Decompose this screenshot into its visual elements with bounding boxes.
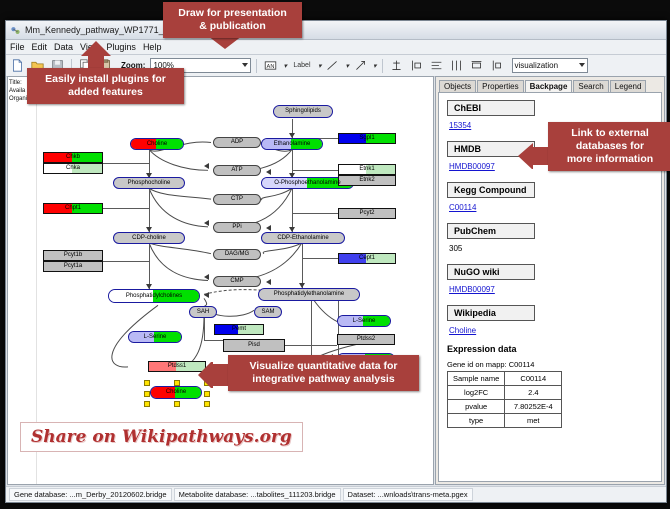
chevron-down-icon[interactable]: ▾ [318, 62, 322, 70]
external-link[interactable]: Choline [449, 326, 476, 335]
backpage-header: Kegg Compound [447, 182, 535, 198]
menu-item-file[interactable]: File [10, 42, 25, 52]
node-label: SAH [197, 309, 209, 316]
gene-node[interactable]: Chka [43, 163, 103, 174]
edge-pemt-pisd [204, 340, 223, 341]
edge-pcyt2-to-backbone [292, 213, 338, 214]
expression-value: 2.4 [505, 386, 562, 400]
share-banner-text: Share on Wikipathways.org [31, 427, 292, 447]
cofactor-node[interactable]: DAG/MG [213, 249, 261, 260]
node-label: ATP [231, 167, 242, 174]
callout-plugins-arrow-icon [81, 41, 111, 71]
expression-data-table: Sample nameC00114log2FC2.4pvalue7.80252E… [447, 371, 562, 428]
metabolite-node[interactable]: Choline [130, 138, 184, 150]
status-gene-database: Gene database: ...m_Derby_20120602.bridg… [9, 488, 172, 501]
node-label: Cept1 [359, 255, 375, 262]
callout-link-text: Link to external databases for more info… [567, 127, 653, 165]
external-link[interactable]: 15354 [449, 121, 471, 130]
backpage-header: Wikipedia [447, 305, 535, 321]
backpage-header: PubChem [447, 223, 535, 239]
gene-id-line: Gene id on mapp: C00114 [447, 360, 661, 369]
datanode-icon[interactable]: AN [262, 57, 279, 74]
cofactor-node[interactable]: CTP [213, 194, 261, 205]
align-top-icon[interactable] [388, 57, 405, 74]
node-label: Chka [66, 165, 80, 172]
backpage-value[interactable]: HMDB00097 [449, 285, 661, 294]
expression-row: typemet [448, 414, 562, 428]
arrow-icon [266, 225, 271, 231]
callout-visualize: Visualize quantitative data for integrat… [228, 355, 419, 391]
arrow-icon [204, 274, 209, 280]
node-label: Ptdss1 [168, 363, 186, 370]
pathvisio-app-icon [10, 25, 21, 36]
node-label: CDP-Ethanolamine [277, 235, 328, 242]
new-file-icon[interactable] [9, 57, 26, 74]
node-label: Phosphatidylcholines [126, 293, 182, 300]
cofactor-node[interactable]: PPi [213, 222, 261, 233]
chevron-down-icon[interactable]: ▾ [373, 62, 377, 70]
resize-handle[interactable] [204, 401, 210, 407]
expression-key: type [448, 414, 505, 428]
menu-item-help[interactable]: Help [143, 42, 162, 52]
expression-value: met [505, 414, 562, 428]
svg-text:AN: AN [267, 64, 275, 70]
expression-row: pvalue7.80252E-4 [448, 400, 562, 414]
arrow-icon [204, 292, 209, 298]
metabolite-node[interactable]: SAM [254, 306, 282, 318]
expression-key: log2FC [448, 386, 505, 400]
gene-node[interactable]: Sgpl1 [338, 133, 396, 144]
metabolite-node[interactable]: O-Phosphoethanolamine [261, 177, 354, 189]
cofactor-node[interactable]: ADP [213, 137, 261, 148]
callout-link-arrow-icon [518, 143, 550, 169]
status-bar: Gene database: ...m_Derby_20120602.bridg… [6, 486, 666, 502]
side-panel-tabs[interactable]: ObjectsPropertiesBackpageSearchLegend [436, 77, 664, 92]
expression-data-section: Expression data Gene id on mapp: C00114 … [439, 344, 661, 428]
node-label: CMP [230, 278, 243, 285]
expression-row: Sample nameC00114 [448, 372, 562, 386]
backpage-header: NuGO wiki [447, 264, 535, 280]
node-label: Phosphocholine [128, 180, 171, 187]
gene-node[interactable]: Etnk1 [338, 164, 396, 175]
edge-ptdss2-connector [311, 345, 337, 346]
node-label: Etnk1 [359, 166, 374, 173]
arrow-icon [204, 163, 209, 169]
gene-node[interactable]: Ptdss2 [337, 334, 395, 345]
edge-pemt-vert [204, 317, 205, 341]
node-label: Chpt1 [65, 205, 81, 212]
node-label: PPi [232, 224, 241, 231]
callout-visualize-text: Visualize quantitative data for integrat… [249, 360, 397, 385]
node-label: DAG/MG [225, 251, 249, 258]
node-label: CTP [231, 196, 243, 203]
cofactor-node[interactable]: ATP [213, 165, 261, 176]
node-label: Ptdss2 [357, 336, 375, 343]
node-label: L-Serine [353, 318, 376, 325]
node-label: CDP-choline [132, 235, 166, 242]
metabolite-node[interactable]: Ethanolamine [261, 138, 323, 150]
resize-handle[interactable] [144, 380, 150, 386]
node-label: ADP [231, 139, 243, 146]
window-titlebar: Mm_Kennedy_pathway_WP1771_45176.gpml [6, 21, 666, 40]
edge-cept1-to-backbone [302, 258, 338, 259]
edge-etnk-to-backbone [292, 170, 338, 171]
node-label: Pcyt2 [359, 210, 374, 217]
callout-plugins-text: Easily install plugins for added feature… [45, 73, 166, 98]
menu-item-data[interactable]: Data [54, 42, 73, 52]
metabolite-node[interactable]: L-Serine [337, 315, 391, 327]
node-label: Etnk2 [359, 177, 374, 184]
resize-handle[interactable] [144, 391, 150, 397]
edge-chk-to-backbone [103, 163, 149, 164]
backpage-value: 305 [449, 244, 661, 253]
gene-node[interactable]: Etnk2 [338, 175, 396, 186]
pathway-canvas[interactable]: Title: Availa Organi [7, 76, 434, 485]
resize-handle[interactable] [204, 391, 210, 397]
node-label: Sgpl1 [359, 135, 374, 142]
expression-key: pvalue [448, 400, 505, 414]
metabolite-node[interactable]: Phosphatidylcholines [108, 289, 200, 303]
external-link[interactable]: HMDB00097 [449, 285, 495, 294]
expression-value: 7.80252E-4 [505, 400, 562, 414]
metabolite-node[interactable]: L-Serine [128, 331, 182, 343]
chevron-down-icon[interactable] [579, 63, 585, 67]
line-icon[interactable] [324, 57, 341, 74]
node-label: Pcyt1b [64, 252, 82, 259]
node-label: Pemt [232, 326, 246, 333]
node-label: Chkb [66, 154, 80, 161]
node-label: Choline [147, 141, 167, 148]
chevron-down-icon[interactable]: ▾ [283, 62, 287, 70]
chevron-down-icon[interactable]: ▾ [345, 62, 349, 70]
node-label: L-Serine [144, 334, 167, 341]
visualization-combobox[interactable]: visualization [512, 58, 588, 73]
metabolite-node[interactable]: Sphingolipids [273, 105, 333, 118]
tab-objects[interactable]: Objects [439, 80, 476, 92]
callout-link: Link to external databases for more info… [548, 122, 670, 171]
edge-pcyt1-to-backbone [103, 261, 149, 262]
gene-node[interactable]: Pcyt2 [338, 208, 396, 219]
gene-node[interactable]: Pcyt1b [43, 250, 103, 261]
tab-legend[interactable]: Legend [610, 80, 647, 92]
gene-node[interactable]: Chkb [43, 152, 103, 163]
expression-data-title: Expression data [447, 344, 661, 354]
gene-node[interactable]: Pisd [223, 339, 285, 352]
resize-handle[interactable] [174, 380, 180, 386]
gene-node[interactable]: Pcyt1a [43, 261, 103, 272]
external-link[interactable]: C00114 [449, 203, 476, 212]
toolbar-separator-2 [256, 59, 257, 73]
callout-plugins: Easily install plugins for added feature… [27, 68, 184, 104]
node-label: O-Phosphoethanolamine [274, 180, 340, 187]
label-icon[interactable]: Label [290, 57, 314, 74]
node-label: Pcyt1a [64, 263, 82, 270]
backpage-header: ChEBI [447, 100, 535, 116]
menu-item-edit[interactable]: Edit [32, 42, 48, 52]
toolbar-separator-3 [382, 59, 383, 73]
align-left-icon[interactable] [408, 57, 425, 74]
callout-draw-text: Draw for presentation & publication [178, 7, 287, 32]
metabolite-node[interactable]: CDP-choline [113, 232, 185, 244]
arrow-icon [204, 220, 209, 226]
callout-visualize-arrow-icon [198, 362, 230, 388]
backpage-value[interactable]: C00114 [449, 203, 661, 212]
cofactor-node[interactable]: CMP [213, 276, 261, 287]
expression-key: Sample name [448, 372, 505, 386]
resize-handle[interactable] [144, 401, 150, 407]
metabolite-node[interactable]: Phosphocholine [113, 177, 185, 189]
visualization-value: visualization [515, 61, 559, 70]
external-link[interactable]: HMDB00097 [449, 162, 495, 171]
stack-icon[interactable] [428, 57, 445, 74]
screenshot-root: Mm_Kennedy_pathway_WP1771_45176.gpml Fil… [0, 0, 670, 509]
callout-draw: Draw for presentation & publication [163, 2, 302, 38]
chevron-down-icon[interactable] [242, 63, 248, 67]
node-label: SAM [261, 309, 274, 316]
backpage-value[interactable]: Choline [449, 326, 661, 335]
arrow-icon [266, 279, 271, 285]
resize-handle[interactable] [174, 401, 180, 407]
gene-node[interactable]: Chpt1 [43, 203, 103, 214]
node-label: Pisd [248, 342, 260, 349]
metabolite-node[interactable]: Phosphatidylethanolamine [258, 288, 360, 301]
node-label: Sphingolipids [285, 108, 321, 115]
node-label: Choline [166, 389, 186, 396]
status-dataset: Dataset: ...wnloads\trans-meta.pgex [343, 488, 473, 501]
share-banner: Share on Wikipathways.org [20, 422, 303, 452]
distribute-icon[interactable] [448, 57, 465, 74]
metabolite-node[interactable]: SAH [189, 306, 217, 318]
interaction-icon[interactable] [352, 57, 369, 74]
common-width-icon[interactable] [468, 57, 485, 74]
edge-chpt1-to-backbone [103, 208, 149, 209]
expression-row: log2FC2.4 [448, 386, 562, 400]
gene-node[interactable]: Cept1 [338, 253, 396, 264]
node-label: Phosphatidylethanolamine [274, 291, 344, 298]
gene-node[interactable]: Pemt [214, 324, 264, 335]
common-height-icon[interactable] [488, 57, 505, 74]
expression-value: C00114 [505, 372, 562, 386]
status-metabolite-database: Metabolite database: ...tabolites_111203… [174, 488, 341, 501]
tab-properties[interactable]: Properties [477, 80, 523, 92]
metabolite-node[interactable]: CDP-Ethanolamine [261, 232, 345, 244]
node-label: Ethanolamine [274, 141, 311, 148]
tab-search[interactable]: Search [573, 80, 608, 92]
arrow-icon [266, 169, 271, 175]
